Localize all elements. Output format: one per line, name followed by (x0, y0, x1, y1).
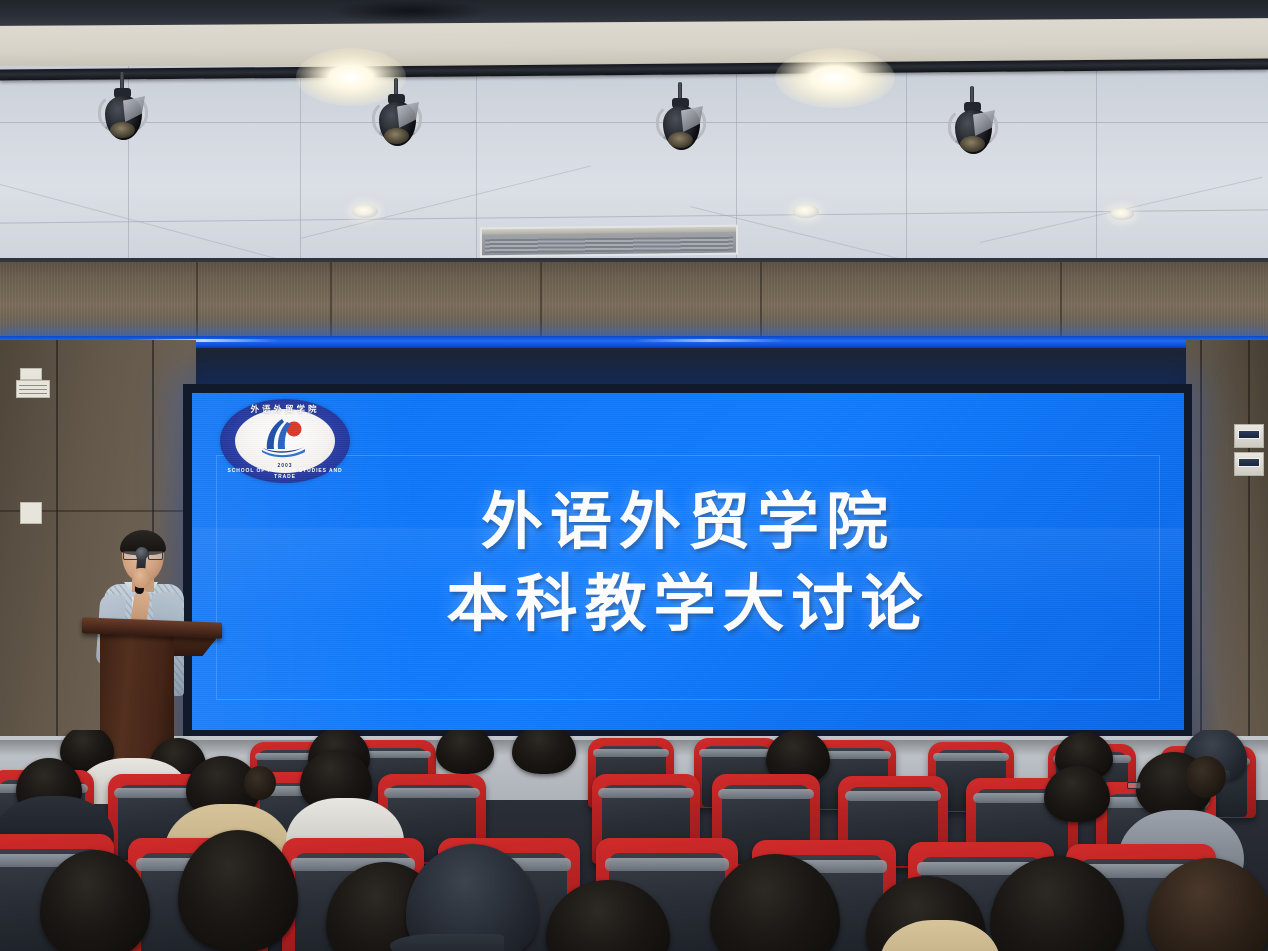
seat-headrest-bar (699, 749, 775, 757)
seat-headrest-bar (845, 791, 942, 801)
audience-head (436, 730, 494, 774)
wall-sign-small (20, 368, 42, 380)
ceiling-vent-icon (480, 225, 738, 258)
ceiling-seam (1096, 66, 1097, 266)
hair-bun (244, 766, 276, 800)
switch-rocker[interactable] (1238, 458, 1260, 467)
track-spotlight-icon (94, 72, 152, 146)
sign-line (19, 385, 47, 386)
seat-headrest-bar (718, 789, 813, 799)
sign-line (19, 389, 47, 390)
track-spotlight-icon (368, 78, 426, 152)
seat-headrest-bar (593, 749, 669, 757)
ceiling-seam (0, 209, 1268, 223)
recessed-downlight-icon (352, 205, 378, 218)
wall-switch-panel-upper[interactable] (1234, 424, 1264, 448)
wood-panel-seam (196, 262, 198, 340)
audience-head (1044, 766, 1110, 822)
wood-panel-seam (1060, 262, 1062, 340)
speaker-hand (133, 568, 150, 588)
school-logo: 外语外贸学院 2003 SCHOOL OF FOREIGN STUDIES AN… (220, 399, 350, 483)
vent-louvers (485, 237, 733, 254)
hair-bun (1186, 756, 1226, 798)
wood-wall-upper (0, 262, 1268, 340)
ceiling-seam (300, 66, 301, 266)
glasses-icon (1127, 782, 1141, 789)
seat-headrest-bar (605, 858, 730, 871)
seat-headrest-bar (933, 753, 1009, 761)
slide-title-line-1: 外语外贸学院 (481, 485, 895, 558)
audience-seating (0, 730, 1268, 951)
switch-rocker[interactable] (1238, 430, 1260, 439)
slide-title-line-2: 本科教学大讨论 (192, 563, 1184, 645)
track-spotlight-icon (652, 82, 710, 156)
spotlight-lens (668, 132, 693, 148)
audience-head (512, 730, 576, 774)
led-screen-display[interactable]: 外语外贸学院 2003 SCHOOL OF FOREIGN STUDIES AN… (192, 393, 1184, 730)
wall-switch-plate-left[interactable] (20, 502, 42, 524)
slide-title: 外语外贸学院 本科教学大讨论 (192, 481, 1184, 646)
sign-line (19, 393, 47, 394)
wood-panel-seam (540, 262, 542, 340)
spotlight-lens (384, 128, 409, 144)
logo-chinese-name: 外语外贸学院 (220, 403, 350, 415)
auditorium-photo: 外语外贸学院 2003 SCHOOL OF FOREIGN STUDIES AN… (0, 0, 1268, 951)
spotlight-lens (110, 122, 135, 138)
recessed-downlight-icon (1110, 208, 1134, 220)
seat-headrest-bar (384, 788, 479, 798)
track-spotlight-icon (944, 86, 1002, 160)
wood-panel-seam (760, 262, 762, 340)
glasses-lens-right (148, 551, 163, 560)
ceiling-seam (476, 66, 477, 266)
ceiling-lamp-glow (775, 48, 895, 108)
wall-switch-panel-lower[interactable] (1234, 452, 1264, 476)
wood-panel-seam (330, 262, 332, 340)
ceiling-seam (0, 122, 1268, 123)
logo-sailboat-icon (260, 415, 306, 459)
logo-english-name: SCHOOL OF FOREIGN STUDIES AND TRADE (220, 468, 350, 480)
recessed-downlight-icon (793, 205, 819, 218)
wall-sign-plate (16, 380, 50, 398)
led-screen-bezel: 外语外贸学院 2003 SCHOOL OF FOREIGN STUDIES AN… (183, 384, 1192, 740)
seat-headrest-bar (598, 788, 693, 798)
wood-grain (0, 262, 1268, 340)
ceiling-seam (906, 66, 907, 266)
spotlight-lens (960, 136, 985, 152)
